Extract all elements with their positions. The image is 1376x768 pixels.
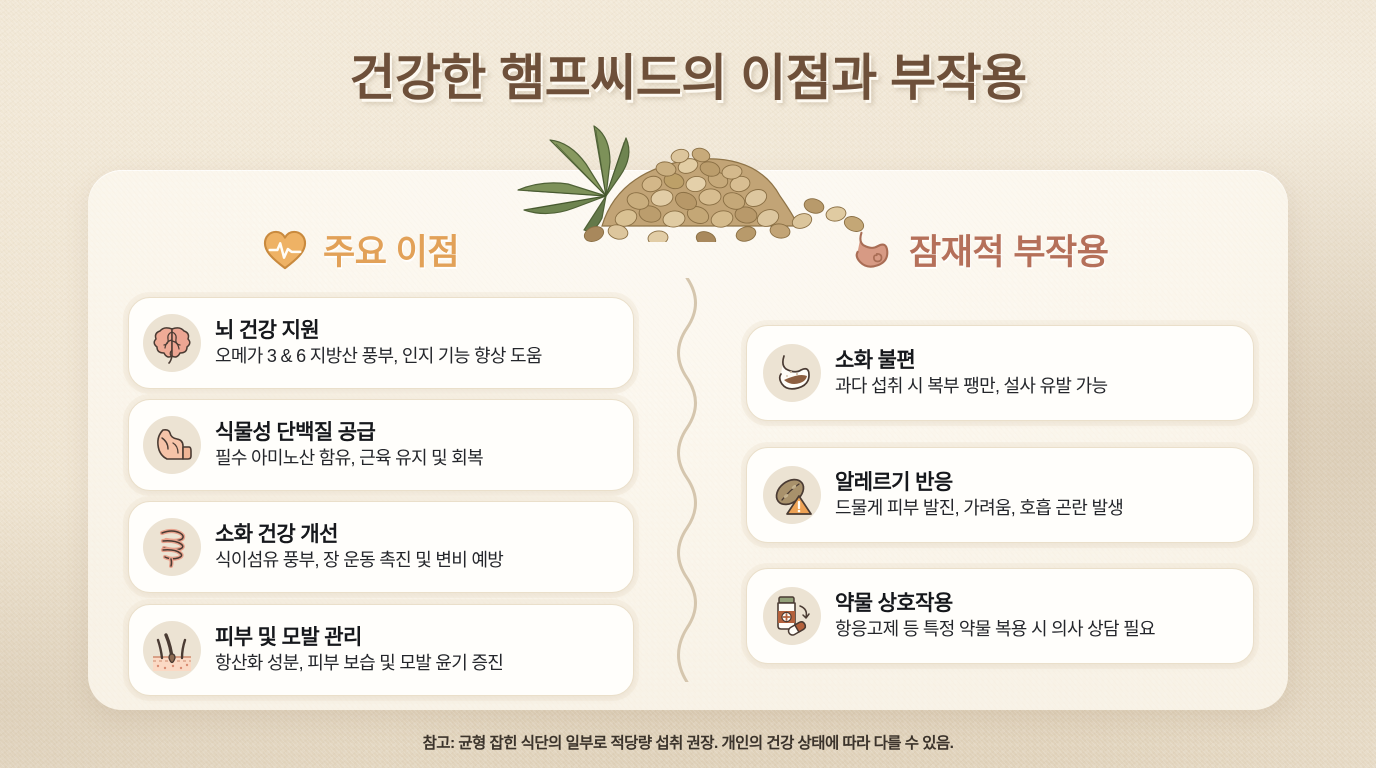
benefit-card-digestive-health[interactable]: 소화 건강 개선 식이섬유 풍부, 장 운동 촉진 및 변비 예방 xyxy=(128,501,634,593)
side-effects-column-title: 잠재적 부작용 xyxy=(909,224,1108,275)
side-effect-card-allergic-reaction[interactable]: 알레르기 반응 드물게 피부 발진, 가려움, 호흡 곤란 발생 xyxy=(746,447,1254,543)
stomach-icon xyxy=(769,350,815,396)
benefits-column-title: 주요 이점 xyxy=(323,224,459,275)
heart-pulse-icon xyxy=(262,229,308,271)
icon-circle xyxy=(143,621,201,679)
side-effect-card-digestive-discomfort[interactable]: 소화 불편 과다 섭취 시 복부 팽만, 설사 유발 가능 xyxy=(746,325,1254,421)
icon-circle xyxy=(143,314,201,372)
icon-circle xyxy=(143,416,201,474)
card-text: 알레르기 반응 드물게 피부 발진, 가려움, 호흡 곤란 발생 xyxy=(821,470,1123,521)
card-text: 피부 및 모발 관리 항산화 성분, 피부 보습 및 모발 윤기 증진 xyxy=(201,625,503,676)
card-title: 소화 건강 개선 xyxy=(215,522,503,548)
card-text: 소화 불편 과다 섭취 시 복부 팽만, 설사 유발 가능 xyxy=(821,348,1107,399)
side-effects-column-header: 잠재적 부작용 xyxy=(848,224,1108,275)
benefit-card-plant-protein[interactable]: 식물성 단백질 공급 필수 아미노산 함유, 근육 유지 및 회복 xyxy=(128,399,634,491)
hair-follicle-skin-icon xyxy=(149,627,195,673)
brain-icon xyxy=(149,320,195,366)
card-description: 드물게 피부 발진, 가려움, 호흡 곤란 발생 xyxy=(835,497,1123,520)
footer-disclaimer-note: 참고: 균형 잡힌 식단의 일부로 적당량 섭취 권장. 개인의 건강 상태에 … xyxy=(0,731,1376,753)
card-text: 식물성 단백질 공급 필수 아미노산 함유, 근육 유지 및 회복 xyxy=(201,420,483,471)
column-divider xyxy=(660,278,714,682)
intestine-icon xyxy=(149,524,195,570)
card-title: 식물성 단백질 공급 xyxy=(215,420,483,446)
flexed-bicep-icon xyxy=(149,422,195,468)
benefit-card-brain-health[interactable]: 뇌 건강 지원 오메가 3 & 6 지방산 풍부, 인지 기능 향상 도움 xyxy=(128,297,634,389)
card-description: 식이섬유 풍부, 장 운동 촉진 및 변비 예방 xyxy=(215,549,503,572)
card-title: 약물 상호작용 xyxy=(835,591,1155,617)
page-title: 건강한 햄프씨드의 이점과 부작용 xyxy=(0,38,1376,110)
pill-bottle-interaction-icon xyxy=(769,593,815,639)
card-title: 피부 및 모발 관리 xyxy=(215,625,503,651)
card-description: 오메가 3 & 6 지방산 풍부, 인지 기능 향상 도움 xyxy=(215,345,542,368)
card-title: 소화 불편 xyxy=(835,348,1107,374)
stomach-icon xyxy=(848,229,894,271)
card-description: 항산화 성분, 피부 보습 및 모발 윤기 증진 xyxy=(215,652,503,675)
side-effect-card-drug-interaction[interactable]: 약물 상호작용 항응고제 등 특정 약물 복용 시 의사 상담 필요 xyxy=(746,568,1254,664)
card-title: 알레르기 반응 xyxy=(835,470,1123,496)
card-description: 항응고제 등 특정 약물 복용 시 의사 상담 필요 xyxy=(835,618,1155,641)
icon-circle xyxy=(763,344,821,402)
seed-warning-icon xyxy=(769,472,815,518)
card-description: 과다 섭취 시 복부 팽만, 설사 유발 가능 xyxy=(835,375,1107,398)
hemp-seed-pile-with-cannabis-leaf-illustration xyxy=(498,122,868,242)
icon-circle xyxy=(763,587,821,645)
icon-circle xyxy=(763,466,821,524)
benefits-column-header: 주요 이점 xyxy=(262,224,459,275)
card-description: 필수 아미노산 함유, 근육 유지 및 회복 xyxy=(215,447,483,470)
card-text: 약물 상호작용 항응고제 등 특정 약물 복용 시 의사 상담 필요 xyxy=(821,591,1155,642)
icon-circle xyxy=(143,518,201,576)
card-text: 뇌 건강 지원 오메가 3 & 6 지방산 풍부, 인지 기능 향상 도움 xyxy=(201,318,542,369)
benefit-card-skin-and-hair[interactable]: 피부 및 모발 관리 항산화 성분, 피부 보습 및 모발 윤기 증진 xyxy=(128,604,634,696)
card-title: 뇌 건강 지원 xyxy=(215,318,542,344)
card-text: 소화 건강 개선 식이섬유 풍부, 장 운동 촉진 및 변비 예방 xyxy=(201,522,503,573)
